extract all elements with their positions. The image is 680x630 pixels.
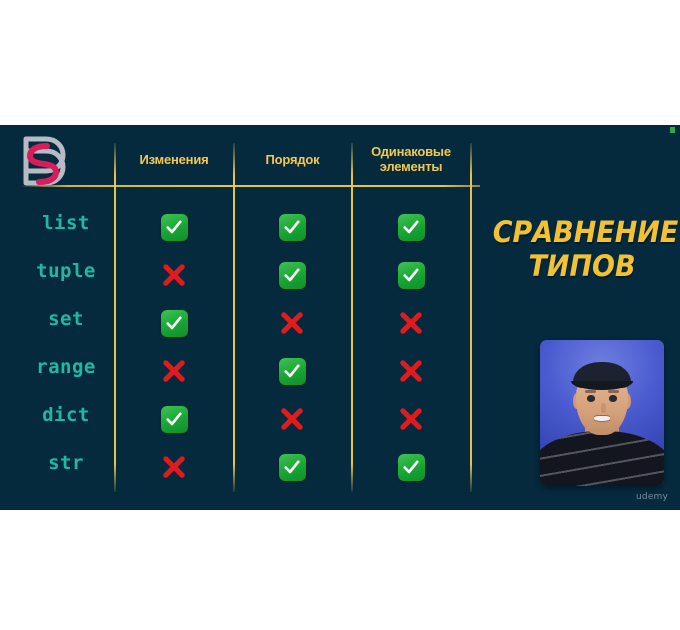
cell-set-order: [262, 305, 322, 341]
cell-tuple-changes: [144, 257, 204, 293]
check-mark-icon: [161, 406, 188, 433]
row-label-list: list: [16, 212, 116, 234]
slide-title-line2: ТИПОВ: [493, 249, 672, 283]
check-mark-icon: [279, 358, 306, 385]
cell-list-duplicates: [381, 209, 441, 245]
cross-mark-icon: [159, 452, 189, 482]
grid-vline-3: [351, 143, 353, 492]
cross-mark-icon: [159, 356, 189, 386]
cross-mark-icon: [277, 308, 307, 338]
presenter-eye-right: [609, 395, 617, 401]
cell-str-changes: [144, 449, 204, 485]
presenter-mouth: [594, 416, 610, 421]
row-label-tuple: tuple: [16, 260, 116, 282]
column-header-changes: Изменения: [116, 137, 232, 181]
slide-title: СРАВНЕНИЕ ТИПОВ: [493, 215, 672, 283]
column-header-order: Порядок: [235, 137, 350, 181]
cell-list-order: [262, 209, 322, 245]
cell-range-duplicates: [381, 353, 441, 389]
comparison-table: Изменения Порядок Одинаковые элементы li…: [0, 125, 480, 510]
grid-vline-4: [470, 143, 472, 492]
row-label-str: str: [16, 452, 116, 474]
screenshot-root: Изменения Порядок Одинаковые элементы li…: [0, 0, 680, 630]
presenter-eyebrow-left: [585, 390, 596, 392]
presentation-slide: Изменения Порядок Одинаковые элементы li…: [0, 125, 680, 510]
check-mark-icon: [161, 310, 188, 337]
cell-set-duplicates: [381, 305, 441, 341]
presenter-eye-left: [587, 395, 595, 401]
cell-tuple-duplicates: [381, 257, 441, 293]
cell-str-duplicates: [381, 449, 441, 485]
cross-mark-icon: [277, 404, 307, 434]
column-header-duplicates: Одинаковые элементы: [353, 137, 469, 181]
grid-hline-header: [22, 185, 480, 187]
cell-dict-changes: [144, 401, 204, 437]
presenter-shirt-pattern: [540, 431, 664, 486]
cell-list-changes: [144, 209, 204, 245]
presenter-eyebrow-right: [608, 390, 619, 392]
check-mark-icon: [279, 454, 306, 481]
cell-set-changes: [144, 305, 204, 341]
cell-range-order: [262, 353, 322, 389]
cell-tuple-order: [262, 257, 322, 293]
cross-mark-icon: [159, 260, 189, 290]
cell-dict-order: [262, 401, 322, 437]
cell-str-order: [262, 449, 322, 485]
check-mark-icon: [161, 214, 188, 241]
check-mark-icon: [398, 454, 425, 481]
udemy-watermark: udemy: [636, 492, 668, 502]
slide-title-line1: СРАВНЕНИЕ: [493, 215, 672, 249]
grid-vline-2: [233, 143, 235, 492]
cross-mark-icon: [396, 404, 426, 434]
presenter-nose: [601, 403, 606, 413]
check-mark-icon: [398, 262, 425, 289]
cross-mark-icon: [396, 308, 426, 338]
row-label-set: set: [16, 308, 116, 330]
encoding-artifact: [670, 127, 675, 133]
check-mark-icon: [279, 262, 306, 289]
check-mark-icon: [398, 214, 425, 241]
cross-mark-icon: [396, 356, 426, 386]
row-label-range: range: [16, 356, 116, 378]
presenter-video[interactable]: [540, 340, 664, 486]
cell-range-changes: [144, 353, 204, 389]
cell-dict-duplicates: [381, 401, 441, 437]
check-mark-icon: [279, 214, 306, 241]
row-label-dict: dict: [16, 404, 116, 426]
